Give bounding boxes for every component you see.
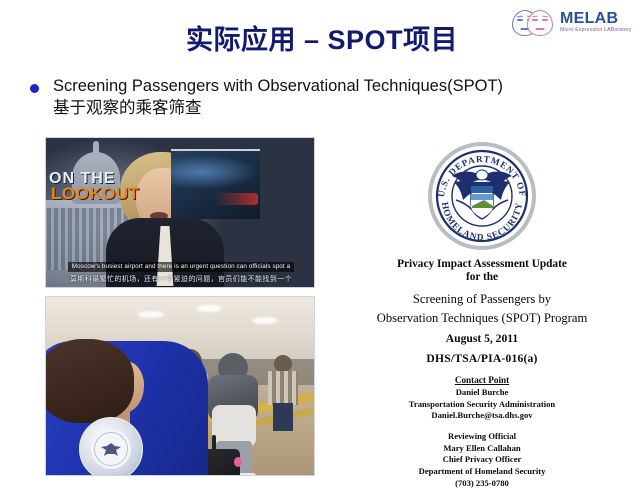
ceiling-lamp-icon [252, 317, 278, 324]
reviewing-official-block: Reviewing Official Mary Ellen Callahan C… [332, 431, 632, 489]
pia-document: U.S. DEPARTMENT OF HOMELAND SECURITY Pri… [332, 142, 632, 489]
contact-name: Daniel Burche [332, 387, 632, 399]
subtitle-english: Moscow's busiest airport and there is an… [68, 262, 294, 272]
bullet-dot-icon [30, 84, 39, 93]
reviewer-org: Department of Homeland Security [332, 466, 632, 478]
doc-heading-1: Privacy Impact Assessment Update [332, 258, 632, 271]
overlay-text-line2: LOOKOUT [51, 184, 140, 204]
reviewer-label: Reviewing Official [332, 431, 632, 443]
tsa-officer-figure [45, 341, 208, 476]
slide-canvas: MELAB Micro-Expression LABoratory 实际应用 –… [0, 0, 644, 478]
ceiling-lamp-icon [138, 311, 164, 318]
ceiling-lamp-icon [196, 305, 222, 312]
officer-hair [45, 339, 134, 423]
doc-heading-2: for the [332, 271, 632, 284]
contact-point-block: Contact Point Daniel Burche Transportati… [332, 374, 632, 422]
doc-date: August 5, 2011 [332, 332, 632, 345]
contact-org: Transportation Security Administration [332, 399, 632, 411]
reviewer-name: Mary Ellen Callahan [332, 443, 632, 455]
tsa-patch-icon [79, 417, 143, 476]
news-video-still[interactable]: ON THE LOOKOUT Moscow's busiest airport … [45, 137, 315, 288]
video-subtitles: Moscow's busiest airport and there is an… [46, 255, 315, 284]
page-title: 实际应用 – SPOT项目 [0, 18, 644, 57]
doc-identifier: DHS/TSA/PIA-016(a) [332, 352, 632, 365]
contact-label: Contact Point [332, 374, 632, 387]
tsa-airport-photo[interactable] [45, 296, 315, 476]
on-the-lookout-graphic [171, 149, 260, 219]
doc-heading-4: Observation Techniques (SPOT) Program [332, 309, 632, 328]
pink-luggage-tag [234, 457, 242, 467]
reviewer-role: Chief Privacy Officer [332, 454, 632, 466]
doc-heading-3: Screening of Passengers by [332, 290, 632, 309]
bullet-text-zh: 基于观察的乘客筛查 [53, 98, 503, 120]
patch-eagle-icon [98, 440, 124, 460]
dhs-seal-icon: U.S. DEPARTMENT OF HOMELAND SECURITY [426, 142, 538, 250]
distant-passenger [266, 355, 300, 429]
subtitle-chinese: 莫斯科最繁忙的机场，还有一个紧迫的问题，官员们能不能找到一个 [46, 274, 315, 284]
contact-email[interactable]: Daniel.Burche@tsa.dhs.gov [332, 410, 632, 422]
bullet-item: Screening Passengers with Observational … [30, 76, 620, 120]
bullet-text-en: Screening Passengers with Observational … [53, 76, 503, 98]
reviewer-phone: (703) 235-0780 [332, 478, 632, 489]
